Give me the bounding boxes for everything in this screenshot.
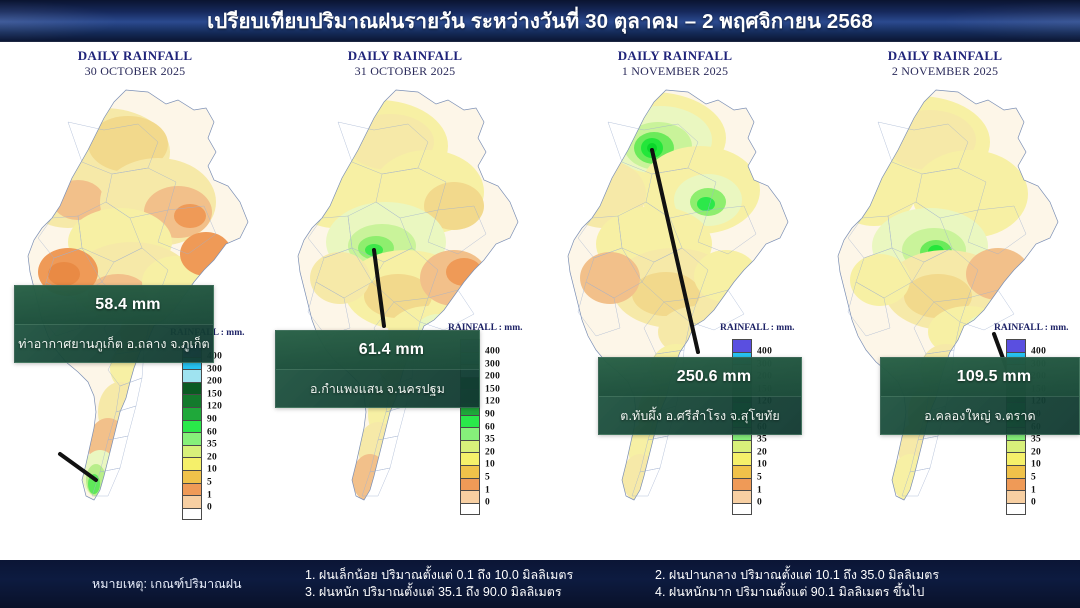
map-panels-container: DAILY RAINFALL 30 OCTOBER 2025 bbox=[0, 42, 1080, 560]
legend-tick-label: 90 bbox=[207, 413, 222, 426]
legend-swatch bbox=[732, 452, 752, 465]
panel-date-4: 2 NOVEMBER 2025 bbox=[810, 64, 1080, 79]
legend-swatch bbox=[732, 503, 752, 516]
note-item-3: 3. ฝนหนัก ปริมาณตั้งแต่ 35.1 ถึง 90.0 มิ… bbox=[305, 584, 573, 601]
legend-swatch bbox=[182, 407, 202, 420]
legend-tick-label: 5 bbox=[1031, 471, 1046, 484]
legend-tick-label: 150 bbox=[207, 388, 222, 401]
callout-value-1: 58.4 mm bbox=[95, 296, 160, 314]
callout-place-3: ต.ทับผึ้ง อ.ศรีสำโรง จ.สุโขทัย bbox=[620, 406, 780, 426]
panel-date-3: 1 NOVEMBER 2025 bbox=[540, 64, 810, 79]
legend-swatch bbox=[1006, 478, 1026, 491]
panel-title-4: DAILY RAINFALL bbox=[810, 48, 1080, 64]
callout-value-row-2: 61.4 mm bbox=[276, 331, 479, 369]
callout-place-row-3: ต.ทับผึ้ง อ.ศรีสำโรง จ.สุโขทัย bbox=[599, 396, 801, 434]
legend-tick-label: 120 bbox=[207, 401, 222, 414]
legend-tick-label: 10 bbox=[1031, 459, 1046, 472]
notes-column-left: 1. ฝนเล็กน้อย ปริมาณตั้งแต่ 0.1 ถึง 10.0… bbox=[305, 567, 573, 601]
callout-box-4[interactable]: 109.5 mm อ.คลองใหญ่ จ.ตราด bbox=[880, 357, 1080, 435]
legend-labels-2: 4003002001501209060352010510 bbox=[485, 339, 500, 503]
map-panel-3: DAILY RAINFALL 1 NOVEMBER 2025 bbox=[540, 42, 810, 560]
legend-tick-label: 1 bbox=[1031, 484, 1046, 497]
legend-tick-label: 150 bbox=[485, 383, 500, 396]
note-item-4: 4. ฝนหนักมาก ปริมาณตั้งแต่ 90.1 มิลลิเมต… bbox=[655, 584, 939, 601]
callout-place-row-2: อ.กำแพงแสน จ.นครปฐม bbox=[276, 369, 479, 407]
legend-tick-label: 0 bbox=[757, 496, 772, 509]
callout-box-3[interactable]: 250.6 mm ต.ทับผึ้ง อ.ศรีสำโรง จ.สุโขทัย bbox=[598, 357, 802, 435]
callout-value-row-1: 58.4 mm bbox=[15, 286, 213, 324]
legend-tick-label: 10 bbox=[207, 464, 222, 477]
callout-place-row-1: ท่าอากาศยานภูเก็ต อ.ถลาง จ.ภูเก็ต bbox=[15, 324, 213, 362]
notes-bar: หมายเหตุ: เกณฑ์ปริมาณฝน 1. ฝนเล็กน้อย ปร… bbox=[0, 560, 1080, 608]
legend-swatch bbox=[1006, 490, 1026, 503]
legend-tick-label: 20 bbox=[757, 446, 772, 459]
legend-swatch bbox=[182, 382, 202, 395]
legend-swatch bbox=[1006, 503, 1026, 516]
legend-swatch bbox=[182, 470, 202, 483]
legend-swatch bbox=[182, 432, 202, 445]
legend-swatch bbox=[182, 483, 202, 496]
callout-value-3: 250.6 mm bbox=[677, 368, 752, 386]
callout-place-row-4: อ.คลองใหญ่ จ.ตราด bbox=[881, 396, 1079, 434]
legend-swatch bbox=[182, 420, 202, 433]
legend-swatch bbox=[182, 445, 202, 458]
legend-tick-label: 5 bbox=[757, 471, 772, 484]
legend-tick-label: 20 bbox=[207, 451, 222, 464]
callout-value-row-3: 250.6 mm bbox=[599, 358, 801, 396]
panel-date-2: 31 OCTOBER 2025 bbox=[270, 64, 540, 79]
legend-swatch bbox=[460, 440, 480, 453]
legend-tick-label: 60 bbox=[207, 426, 222, 439]
legend-tick-label: 90 bbox=[485, 408, 500, 421]
map-panel-2: DAILY RAINFALL 31 OCTOBER 2025 bbox=[270, 42, 540, 560]
callout-place-1: ท่าอากาศยานภูเก็ต อ.ถลาง จ.ภูเก็ต bbox=[18, 334, 209, 354]
callout-value-4: 109.5 mm bbox=[957, 368, 1032, 386]
panel-date-1: 30 OCTOBER 2025 bbox=[0, 64, 270, 79]
legend-swatch bbox=[182, 457, 202, 470]
rainfall-comparison-infographic: เปรียบเทียบปริมาณฝนรายวัน ระหว่างวันที่ … bbox=[0, 0, 1080, 608]
panel-title-3: DAILY RAINFALL bbox=[540, 48, 810, 64]
legend-swatch bbox=[460, 415, 480, 428]
legend-tick-label: 300 bbox=[207, 363, 222, 376]
legend-swatch bbox=[1006, 452, 1026, 465]
panel-title-1: DAILY RAINFALL bbox=[0, 48, 270, 64]
map-panel-4: DAILY RAINFALL 2 NOVEMBER 2025 bbox=[810, 42, 1080, 560]
legend-title-3: RAINFALL : mm. bbox=[720, 323, 806, 333]
legend-swatch bbox=[1006, 440, 1026, 453]
legend-tick-label: 10 bbox=[757, 459, 772, 472]
legend-tick-label: 0 bbox=[485, 496, 500, 509]
legend-tick-label: 20 bbox=[485, 446, 500, 459]
legend-tick-label: 1 bbox=[485, 484, 500, 497]
callout-box-2[interactable]: 61.4 mm อ.กำแพงแสน จ.นครปฐม bbox=[275, 330, 480, 408]
legend-swatch bbox=[460, 452, 480, 465]
legend-swatch bbox=[182, 508, 202, 521]
callout-box-1[interactable]: 58.4 mm ท่าอากาศยานภูเก็ต อ.ถลาง จ.ภูเก็… bbox=[14, 285, 214, 363]
legend-tick-label: 1 bbox=[757, 484, 772, 497]
notes-column-right: 2. ฝนปานกลาง ปริมาณตั้งแต่ 10.1 ถึง 35.0… bbox=[655, 567, 939, 601]
legend-swatch bbox=[1006, 465, 1026, 478]
note-item-2: 2. ฝนปานกลาง ปริมาณตั้งแต่ 10.1 ถึง 35.0… bbox=[655, 567, 939, 584]
legend-swatch bbox=[182, 495, 202, 508]
legend-tick-label: 60 bbox=[485, 421, 500, 434]
legend-tick-label: 200 bbox=[485, 370, 500, 383]
callout-value-row-4: 109.5 mm bbox=[881, 358, 1079, 396]
page-title: เปรียบเทียบปริมาณฝนรายวัน ระหว่างวันที่ … bbox=[207, 5, 873, 38]
header-bar: เปรียบเทียบปริมาณฝนรายวัน ระหว่างวันที่ … bbox=[0, 0, 1080, 42]
callout-place-4: อ.คลองใหญ่ จ.ตราด bbox=[924, 406, 1035, 426]
legend-tick-label: 10 bbox=[485, 459, 500, 472]
legend-swatch bbox=[460, 478, 480, 491]
legend-swatch bbox=[460, 465, 480, 478]
legend-tick-label: 120 bbox=[485, 396, 500, 409]
map-panel-1: DAILY RAINFALL 30 OCTOBER 2025 bbox=[0, 42, 270, 560]
legend-swatch bbox=[182, 394, 202, 407]
legend-tick-label: 35 bbox=[1031, 433, 1046, 446]
legend-tick-label: 300 bbox=[485, 358, 500, 371]
legend-swatch bbox=[460, 427, 480, 440]
legend-tick-label: 35 bbox=[757, 433, 772, 446]
legend-tick-label: 35 bbox=[207, 438, 222, 451]
callout-value-2: 61.4 mm bbox=[359, 341, 424, 359]
callout-place-2: อ.กำแพงแสน จ.นครปฐม bbox=[310, 379, 445, 399]
legend-swatch bbox=[460, 503, 480, 516]
legend-swatch bbox=[732, 465, 752, 478]
legend-tick-label: 400 bbox=[485, 345, 500, 358]
legend-tick-label: 0 bbox=[207, 501, 222, 514]
notes-label: หมายเหตุ: เกณฑ์ปริมาณฝน bbox=[92, 574, 242, 594]
legend-labels-1: 4003002001501209060352010510 bbox=[207, 344, 222, 508]
legend-swatch bbox=[732, 490, 752, 503]
legend-swatch bbox=[460, 490, 480, 503]
note-item-1: 1. ฝนเล็กน้อย ปริมาณตั้งแต่ 0.1 ถึง 10.0… bbox=[305, 567, 573, 584]
legend-tick-label: 400 bbox=[1031, 345, 1046, 358]
legend-tick-label: 0 bbox=[1031, 496, 1046, 509]
legend-tick-label: 200 bbox=[207, 375, 222, 388]
legend-tick-label: 35 bbox=[485, 433, 500, 446]
legend-swatch bbox=[732, 478, 752, 491]
legend-swatch bbox=[182, 369, 202, 382]
panel-title-2: DAILY RAINFALL bbox=[270, 48, 540, 64]
legend-swatch bbox=[732, 440, 752, 453]
legend-tick-label: 1 bbox=[207, 489, 222, 502]
legend-tick-label: 400 bbox=[757, 345, 772, 358]
legend-tick-label: 20 bbox=[1031, 446, 1046, 459]
legend-tick-label: 5 bbox=[485, 471, 500, 484]
legend-colorbar-1 bbox=[182, 344, 202, 520]
legend-swatch bbox=[732, 339, 752, 352]
legend-title-4: RAINFALL : mm. bbox=[994, 323, 1080, 333]
legend-swatch bbox=[1006, 339, 1026, 352]
legend-tick-label: 5 bbox=[207, 476, 222, 489]
